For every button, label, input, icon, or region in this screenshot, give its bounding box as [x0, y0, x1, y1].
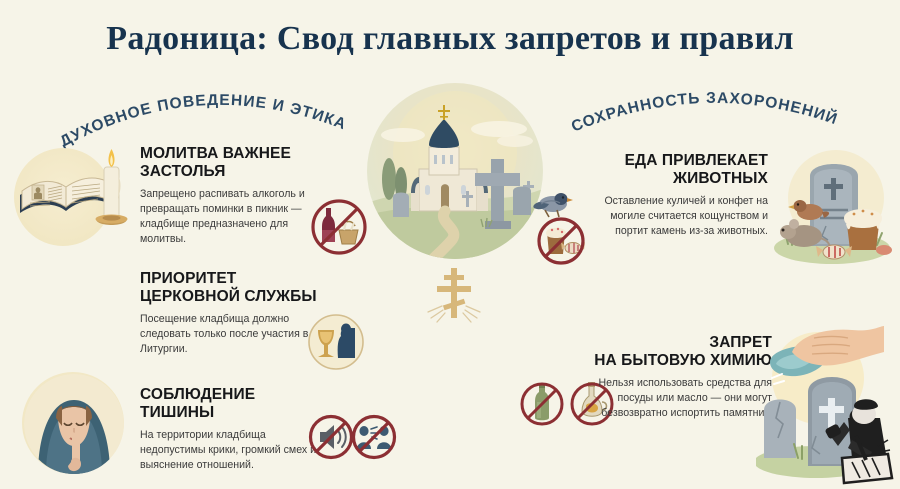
section-header-right-label: СОХРАННОСТЬ ЗАХОРОНЕНИЙ — [569, 90, 840, 136]
block-liturgy: ПРИОРИТЕТ ЦЕРКОВНОЙ СЛУЖБЫ Посещение кла… — [140, 270, 326, 357]
block-chemistry: ЗАПРЕТ НА БЫТОВУЮ ХИМИЮ Нельзя использов… — [572, 334, 772, 421]
block-food-heading-line2: ЖИВОТНЫХ — [673, 170, 768, 187]
block-liturgy-heading: ПРИОРИТЕТ ЦЕРКОВНОЙ СЛУЖБЫ — [140, 270, 326, 307]
no-dish-soap-icon — [518, 378, 566, 430]
orthodox-cross-rays — [424, 262, 484, 324]
block-food-heading: ЕДА ПРИВЛЕКАЕТ ЖИВОТНЫХ — [592, 152, 768, 189]
block-prayer: МОЛИТВА ВАЖНЕЕ ЗАСТОЛЬЯ Запрещено распив… — [140, 145, 318, 247]
woman-shushing-icon — [22, 370, 126, 480]
block-silence-heading: СОБЛЮДЕНИЕ ТИШИНЫ — [140, 386, 330, 423]
block-liturgy-heading-line2: ЦЕРКОВНОЙ СЛУЖБЫ — [140, 288, 317, 305]
block-liturgy-body: Посещение кладбища должно следовать толь… — [140, 312, 326, 357]
orthodox-church-cemetery-illustration — [367, 83, 543, 259]
block-silence: СОБЛЮДЕНИЕ ТИШИНЫ На территории кладбища… — [140, 386, 330, 473]
block-chemistry-heading-line2: НА БЫТОВУЮ ХИМИЮ — [594, 352, 772, 369]
hand-cleaning-gravestone-stonemason-icon — [756, 326, 900, 489]
no-alcohol-picnic-icon — [306, 196, 372, 258]
bird-no-kulich-candy-icon — [527, 186, 593, 264]
block-prayer-body: Запрещено распивать алкоголь и превращат… — [140, 187, 318, 247]
block-prayer-heading-line1: МОЛИТВА ВАЖНЕЕ — [140, 145, 291, 162]
block-silence-body: На территории кладбища недопустимы крики… — [140, 428, 330, 473]
grave-with-animals-and-kulich-icon — [766, 140, 898, 268]
block-prayer-heading: МОЛИТВА ВАЖНЕЕ ЗАСТОЛЬЯ — [140, 145, 318, 182]
open-book-and-candle-icon — [8, 133, 134, 245]
svg-text:СОХРАННОСТЬ ЗАХОРОНЕНИЙ: СОХРАННОСТЬ ЗАХОРОНЕНИЙ — [569, 90, 840, 136]
block-chemistry-heading: ЗАПРЕТ НА БЫТОВУЮ ХИМИЮ — [572, 334, 772, 371]
block-chemistry-body: Нельзя использовать средства для посуды … — [572, 376, 772, 421]
infographic-canvas: Радоница: Свод главных запретов и правил… — [0, 0, 900, 489]
no-arguing-icon — [349, 412, 399, 462]
block-food: ЕДА ПРИВЛЕКАЕТ ЖИВОТНЫХ Оставление кулич… — [592, 152, 768, 239]
block-food-body: Оставление куличей и конфет на могиле сч… — [592, 194, 768, 239]
chalice-and-praying-person-icon — [300, 312, 372, 376]
page-title: Радоница: Свод главных запретов и правил — [0, 20, 900, 58]
block-liturgy-heading-line1: ПРИОРИТЕТ — [140, 270, 236, 287]
block-prayer-heading-line2: ЗАСТОЛЬЯ — [140, 163, 225, 180]
block-food-heading-line1: ЕДА ПРИВЛЕКАЕТ — [625, 152, 768, 169]
